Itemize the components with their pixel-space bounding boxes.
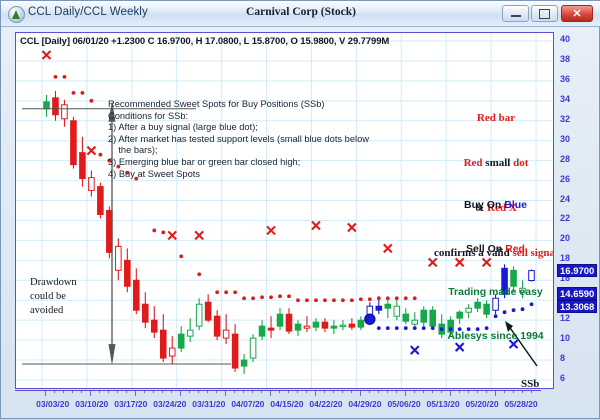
- price-axis: 403836343230282624222018161412108616.970…: [556, 32, 600, 389]
- maximize-button[interactable]: [531, 5, 558, 22]
- slogan-line2-b: Red: [505, 243, 525, 255]
- date-tick-1: 03/10/20: [75, 399, 108, 409]
- drawdown-line-2: avoided: [30, 304, 77, 318]
- price-badge-1: 14.6590: [557, 287, 597, 300]
- title-bar: CCL Daily/CCL Weekly Carnival Corp (Stoc…: [1, 1, 600, 27]
- date-tick-10: 05/13/20: [426, 399, 459, 409]
- brand-slogan-annotation: Buy On Blue Sell On Red Trading made eas…: [408, 169, 554, 372]
- price-tick-28: 28: [560, 154, 570, 164]
- date-axis: 03/03/2003/10/2003/17/2003/24/2003/31/20…: [15, 390, 554, 420]
- maximize-icon: [532, 6, 557, 21]
- ssb-conditions-annotation: Recommended Sweet Spots for Buy Position…: [108, 99, 369, 180]
- price-tick-6: 6: [560, 373, 565, 383]
- price-tick-18: 18: [560, 253, 570, 263]
- price-tick-38: 38: [560, 54, 570, 64]
- date-tick-12: 05/28/20: [505, 399, 538, 409]
- minimize-button[interactable]: [502, 5, 529, 22]
- price-tick-24: 24: [560, 194, 570, 204]
- date-tick-5: 04/07/20: [231, 399, 264, 409]
- drawdown-annotation: Drawdowncould beavoided: [30, 276, 77, 318]
- price-tick-40: 40: [560, 34, 570, 44]
- date-tick-4: 03/31/20: [192, 399, 225, 409]
- sell-line2-a: Red: [464, 157, 483, 169]
- slogan-line3: Trading made easy: [448, 286, 543, 298]
- date-tick-6: 04/15/20: [270, 399, 303, 409]
- price-tick-20: 20: [560, 233, 570, 243]
- price-tick-30: 30: [560, 134, 570, 144]
- slogan-line2-a: Sell On: [466, 243, 505, 255]
- drawdown-line-1: could be: [30, 290, 77, 304]
- chart-window: CCL Daily/CCL Weekly Carnival Corp (Stoc…: [0, 0, 600, 419]
- minimize-icon: [503, 6, 528, 21]
- date-tick-7: 04/22/20: [309, 399, 342, 409]
- ssb-line-4: the bars);: [108, 145, 369, 157]
- price-tick-36: 36: [560, 74, 570, 84]
- date-tick-0: 03/03/20: [36, 399, 69, 409]
- slogan-line1-b: Blue: [504, 199, 527, 211]
- price-tick-26: 26: [560, 174, 570, 184]
- price-tick-12: 12: [560, 313, 570, 323]
- quote-info-line: CCL [Daily] 06/01/20 +1.2300 C 16.9700, …: [20, 36, 389, 47]
- ssb-line-2: 1) After a buy signal (large blue dot);: [108, 122, 369, 134]
- ssb-line-6: 4) Buy at Sweet Spots: [108, 169, 369, 181]
- price-tick-8: 8: [560, 353, 565, 363]
- ssb-line-5: 3) Emerging blue bar or green bar closed…: [108, 157, 369, 169]
- price-tick-34: 34: [560, 94, 570, 104]
- date-tick-2: 03/17/20: [114, 399, 147, 409]
- axis-baseline: [15, 390, 541, 391]
- sell-line1: Red bar: [477, 112, 515, 124]
- price-badge-0: 16.9700: [557, 264, 597, 277]
- ssb-line-0: Recommended Sweet Spots for Buy Position…: [108, 99, 369, 111]
- price-tick-22: 22: [560, 213, 570, 223]
- ssb-line-3: 2) After market has tested support level…: [108, 134, 369, 146]
- price-badge-2: 13.3068: [557, 300, 597, 313]
- date-tick-9: 05/06/20: [387, 399, 420, 409]
- slogan-line1-a: Buy On: [464, 199, 504, 211]
- chart-plot-area[interactable]: CCL [Daily] 06/01/20 +1.2300 C 16.9700, …: [15, 32, 554, 389]
- close-icon: ✕: [562, 6, 592, 21]
- date-tick-3: 03/24/20: [153, 399, 186, 409]
- drawdown-line-0: Drawdown: [30, 276, 77, 290]
- ssb-arrow-label: SSb: [521, 378, 539, 389]
- price-tick-10: 10: [560, 333, 570, 343]
- date-tick-8: 04/29/20: [348, 399, 381, 409]
- sell-line2-c: dot: [513, 157, 528, 169]
- ssb-line-1: Conditions for SSb:: [108, 111, 369, 123]
- close-button[interactable]: ✕: [561, 5, 593, 22]
- sell-line2-b: small: [483, 157, 514, 169]
- slogan-line4: Ablesys since 1994: [447, 330, 543, 342]
- date-tick-11: 05/20/20: [466, 399, 499, 409]
- buy-signal-annotation: Blue bar Blue small dot & Blue X Confirm…: [316, 360, 516, 389]
- price-tick-32: 32: [560, 114, 570, 124]
